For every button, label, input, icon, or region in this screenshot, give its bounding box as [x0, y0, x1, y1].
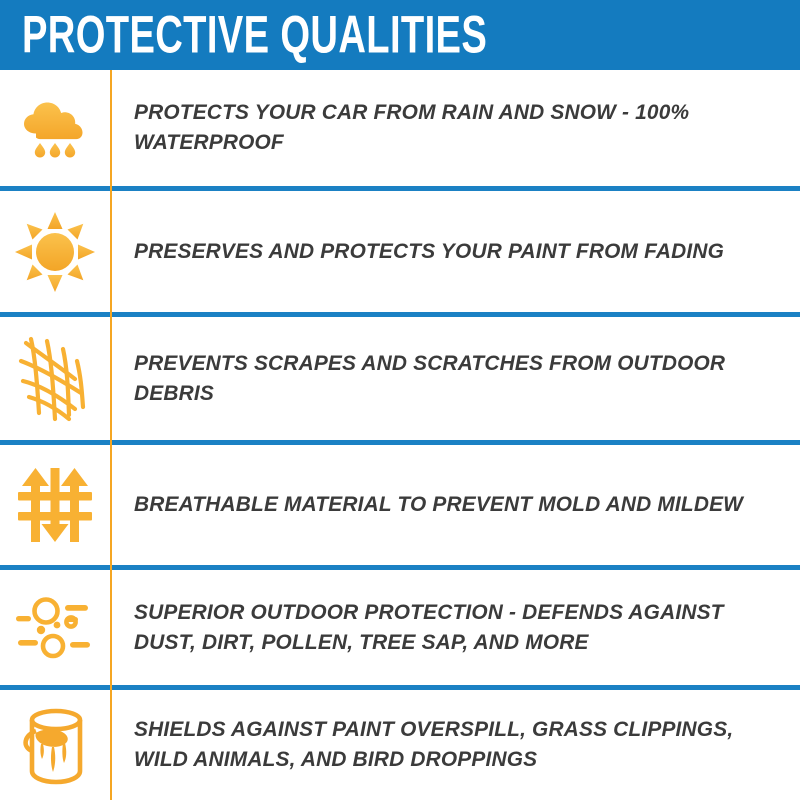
feature-text: BREATHABLE MATERIAL TO PREVENT MOLD AND … [134, 490, 763, 520]
feature-row-paint-overspill: SHIELDS AGAINST PAINT OVERSPILL, GRASS C… [0, 690, 800, 800]
feature-row-breathable: BREATHABLE MATERIAL TO PREVENT MOLD AND … [0, 445, 800, 565]
feature-text: SHIELDS AGAINST PAINT OVERSPILL, GRASS C… [134, 715, 763, 774]
page-title: PROTECTIVE QUALITIES [22, 9, 487, 62]
feature-row-waterproof: PROTECTS YOUR CAR FROM RAIN AND SNOW - 1… [0, 70, 800, 186]
icon-cell [0, 690, 110, 800]
cloud-rain-icon [16, 89, 94, 167]
icon-cell [0, 70, 110, 186]
scratch-mesh-icon [13, 335, 97, 423]
feature-text: PREVENTS SCRAPES AND SCRATCHES FROM OUTD… [134, 349, 763, 408]
sun-icon [13, 210, 97, 294]
feature-row-scratch-resistance: PREVENTS SCRAPES AND SCRATCHES FROM OUTD… [0, 317, 800, 440]
feature-text: PROTECTS YOUR CAR FROM RAIN AND SNOW - 1… [134, 98, 763, 157]
feature-row-uv-fading: PRESERVES AND PROTECTS YOUR PAINT FROM F… [0, 191, 800, 312]
vertical-orange-divider [110, 70, 112, 800]
feature-list: PROTECTS YOUR CAR FROM RAIN AND SNOW - 1… [0, 70, 800, 800]
icon-cell [0, 317, 110, 440]
text-cell: PROTECTS YOUR CAR FROM RAIN AND SNOW - 1… [110, 98, 800, 157]
feature-text: PRESERVES AND PROTECTS YOUR PAINT FROM F… [134, 237, 763, 267]
dust-particles-icon [13, 592, 97, 664]
paint-bucket-icon [14, 703, 96, 787]
header-banner: PROTECTIVE QUALITIES [0, 0, 800, 70]
text-cell: BREATHABLE MATERIAL TO PREVENT MOLD AND … [110, 490, 800, 520]
text-cell: SHIELDS AGAINST PAINT OVERSPILL, GRASS C… [110, 715, 800, 774]
breathable-arrows-icon [14, 464, 96, 546]
icon-cell [0, 445, 110, 565]
feature-row-dust-protection: SUPERIOR OUTDOOR PROTECTION - DEFENDS AG… [0, 570, 800, 685]
text-cell: PREVENTS SCRAPES AND SCRATCHES FROM OUTD… [110, 349, 800, 408]
icon-cell [0, 191, 110, 312]
icon-cell [0, 570, 110, 685]
text-cell: PRESERVES AND PROTECTS YOUR PAINT FROM F… [110, 237, 800, 267]
protective-qualities-infographic: PROTECTIVE QUALITIES [0, 0, 800, 800]
text-cell: SUPERIOR OUTDOOR PROTECTION - DEFENDS AG… [110, 598, 800, 657]
feature-text: SUPERIOR OUTDOOR PROTECTION - DEFENDS AG… [134, 598, 763, 657]
